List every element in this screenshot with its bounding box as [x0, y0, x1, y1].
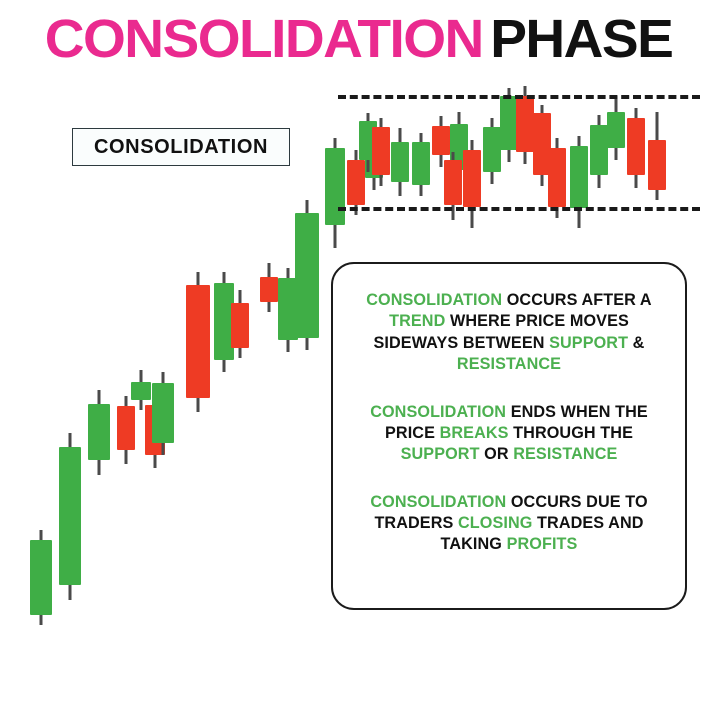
- candlestick-18-down: [372, 118, 390, 186]
- candle-body: [570, 146, 588, 208]
- candlestick-1-up: [59, 433, 81, 600]
- candle-body: [412, 142, 430, 185]
- candle-body: [648, 140, 666, 190]
- candlestick-9-down: [231, 290, 249, 358]
- candle-body: [131, 382, 151, 400]
- candle-body: [117, 406, 135, 450]
- candle-body: [590, 125, 608, 175]
- info-box: CONSOLIDATION OCCURS AFTER A TREND WHERE…: [331, 262, 687, 610]
- highlight-term: BREAKS: [440, 424, 509, 442]
- highlight-term: CONSOLIDATION: [370, 493, 506, 511]
- body-text: OCCURS AFTER A: [502, 291, 652, 309]
- consolidation-label-text: CONSOLIDATION: [94, 136, 268, 159]
- candle-body: [432, 126, 450, 155]
- consolidation-label-box: CONSOLIDATION: [72, 128, 290, 166]
- candlestick-33-down: [648, 112, 666, 200]
- candle-body: [444, 160, 462, 205]
- highlight-term: CLOSING: [458, 514, 532, 532]
- highlight-term: CONSOLIDATION: [370, 403, 506, 421]
- resistance-line: [338, 95, 700, 99]
- candle-body: [88, 404, 110, 460]
- candle-body: [516, 96, 534, 152]
- candlestick-24-up: [483, 118, 501, 184]
- candle-body: [152, 383, 174, 443]
- candlestick-0-up: [30, 530, 52, 625]
- candlestick-13-up: [325, 138, 345, 248]
- candle-body: [607, 112, 625, 148]
- highlight-term: RESISTANCE: [457, 355, 561, 373]
- candlestick-32-down: [627, 108, 645, 188]
- candle-body: [372, 127, 390, 175]
- candlestick-6-up: [152, 372, 174, 455]
- candle-body: [30, 540, 52, 615]
- candlestick-31-up: [607, 96, 625, 160]
- highlight-term: SUPPORT: [401, 445, 480, 463]
- body-text: &: [628, 334, 644, 352]
- candlestick-7-down: [186, 272, 210, 412]
- candlestick-10-down: [260, 263, 278, 312]
- candlestick-23-down: [463, 140, 481, 228]
- candlestick-12-up: [295, 200, 319, 350]
- candle-body: [627, 118, 645, 175]
- highlight-term: PROFITS: [507, 535, 578, 553]
- candle-body: [325, 148, 345, 225]
- candle-body: [231, 303, 249, 348]
- candlestick-29-up: [570, 136, 588, 228]
- body-text: OR: [480, 445, 514, 463]
- highlight-term: TREND: [389, 312, 445, 330]
- candlestick-5-up: [131, 370, 151, 410]
- candle-body: [391, 142, 409, 182]
- candlestick-30-up: [590, 115, 608, 188]
- candle-body: [548, 148, 566, 207]
- candlestick-2-up: [88, 390, 110, 475]
- highlight-term: CONSOLIDATION: [366, 291, 502, 309]
- candle-body: [59, 447, 81, 585]
- highlight-term: SUPPORT: [549, 334, 628, 352]
- candle-body: [483, 127, 501, 172]
- info-paragraph-2: CONSOLIDATION ENDS WHEN THE PRICE BREAKS…: [353, 402, 665, 466]
- support-line: [338, 207, 700, 211]
- info-paragraph-1: CONSOLIDATION OCCURS AFTER A TREND WHERE…: [353, 290, 665, 376]
- candlestick-28-down: [548, 138, 566, 218]
- candle-body: [463, 150, 481, 207]
- candlestick-19-up: [412, 133, 430, 196]
- info-paragraph-3: CONSOLIDATION OCCURS DUE TO TRADERS CLOS…: [353, 492, 665, 556]
- infographic-canvas: CONSOLIDATION PHASE CONSOLIDATION CONSOL…: [0, 0, 720, 720]
- candle-body: [260, 277, 278, 302]
- highlight-term: RESISTANCE: [513, 445, 617, 463]
- candle-body: [186, 285, 210, 398]
- body-text: THROUGH THE: [509, 424, 633, 442]
- candlestick-16-up: [391, 128, 409, 196]
- candle-body: [295, 213, 319, 338]
